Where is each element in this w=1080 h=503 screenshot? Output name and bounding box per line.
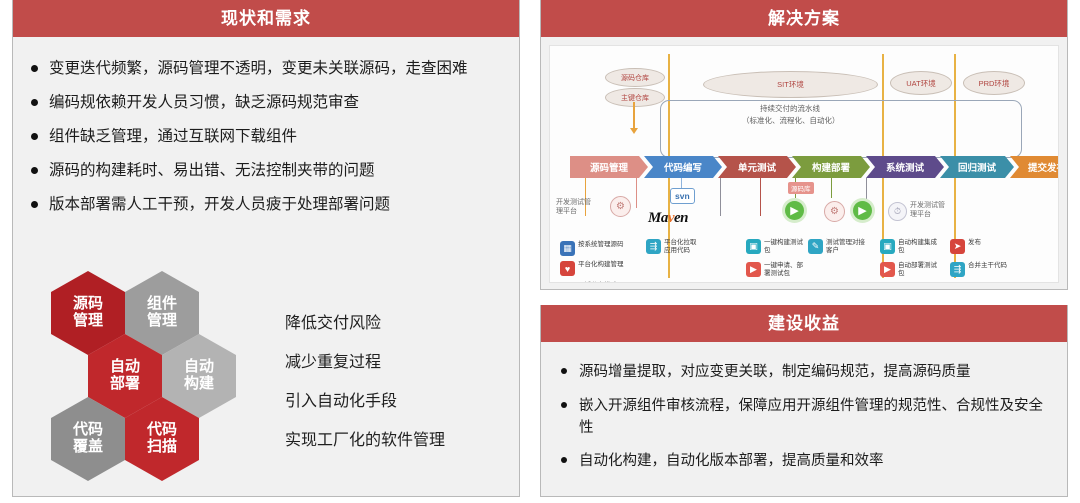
svn-icon: svn [670,188,695,204]
env-pill-sit: SIT环境 [703,71,878,98]
branch-icon: ⇶ [560,282,575,283]
heart-icon: ♥ [560,261,575,276]
feature-item: ⇶ 平台化拉取 应用代码 [646,239,697,255]
feature-item: ▶ 一键申请、部 署测试包 [746,262,803,278]
feature-item: ♥ 平台化构建管理 [560,261,624,276]
gear-icon: ⚙ [610,196,631,217]
env-pill-prd: PRD环境 [963,71,1025,95]
slide-root: 现状和需求 变更迭代频繁，源码管理不透明，变更未关联源码，走查困难 编码规依赖开… [0,0,1080,503]
source-repo-tag: 源码库 [788,182,814,194]
list-item: 自动化构建，自动化版本部署，提高质量和效率 [559,451,1045,473]
list-item: 组件缺乏管理，通过互联网下载组件 [29,127,503,148]
dev-test-platform-label-right: 开发测试管 理平台 [910,201,945,219]
list-item: 嵌入开源组件审核流程，保障应用开源组件管理的规范性、合规性及安全性 [559,396,1045,440]
source-repo-pill: 源码仓库 [605,68,665,87]
connector-line [760,178,761,216]
goal-item: 减少重复过程 [285,348,445,372]
connector-line [720,178,721,216]
branch-icon: ⇶ [646,239,661,254]
goal-list: 降低交付风险 减少重复过程 引入自动化手段 实现工厂化的软件管理 [285,309,445,465]
solution-title: 解决方案 [541,0,1067,37]
list-item: 版本部署需人工干预，开发人员疲于处理部署问题 [29,195,503,216]
gear-icon: ⚙ [824,201,845,222]
solution-panel: 解决方案 源码仓库 主键仓库 SIT环境 UAT环境 PRD环境 持续交付的流水… [540,0,1068,290]
list-item: 编码规依赖开发人员习惯，缺乏源码规范审查 [29,93,503,114]
cd-label-line1: 持续交付的流水线 [760,104,820,114]
goal-item: 引入自动化手段 [285,387,445,411]
pipeline-stage-code-writing[interactable]: 代码编写 [644,156,722,178]
benefit-list: 源码增量提取，对应变更关联，制定编码规范，提高源码质量 嵌入开源组件审核流程，保… [559,362,1045,473]
current-status-body: 变更迭代频繁，源码管理不透明，变更未关联源码，走查困难 编码规依赖开发人员习惯，… [13,37,519,496]
play-icon: ▶ [785,201,804,220]
clipboard-icon: ✎ [808,239,823,254]
benefit-body: 源码增量提取，对应变更关联，制定编码规范，提高源码质量 嵌入开源组件审核流程，保… [541,342,1067,496]
pipeline-stage-regression-test[interactable]: 回归测试 [940,156,1014,178]
solution-body: 源码仓库 主键仓库 SIT环境 UAT环境 PRD环境 持续交付的流水线 （标准… [541,37,1067,289]
pipeline-stage-build-deploy[interactable]: 构建部署 [792,156,870,178]
env-pill-uat: UAT环境 [890,71,952,95]
play-icon: ▶ [880,262,895,277]
goal-item: 降低交付风险 [285,309,445,333]
capability-hexagon-cluster: 源码 管理 组件 管理 自动 部署 自动 构建 代码 覆盖 代码 扫描 [31,269,276,494]
current-status-panel: 现状和需求 变更迭代频繁，源码管理不透明，变更未关联源码，走查困难 编码规依赖开… [12,0,520,497]
pipeline-stage-release[interactable]: 提交发布 [1010,156,1059,178]
feature-item: ➤ 发布 [950,239,981,254]
connector-line [636,178,637,208]
list-item: 源码的构建耗时、易出错、无法控制夹带的问题 [29,161,503,182]
cd-label-line2: （标准化、流程化、自动化） [742,116,840,126]
grid-icon: ▦ [560,241,575,256]
feature-item: ⇶ 灵活分支模式 [560,282,617,283]
problem-list: 变更迭代频繁，源码管理不透明，变更未关联源码，走查困难 编码规依赖开发人员习惯，… [29,59,503,216]
cd-pipeline-box [660,100,1022,158]
play-icon: ▶ [746,262,761,277]
repo-arrow-icon [633,102,635,128]
pipeline-stage-system-test[interactable]: 系统测试 [866,156,944,178]
list-item: 变更迭代频繁，源码管理不透明，变更未关联源码，走查困难 [29,59,503,80]
benefit-title: 建设收益 [541,305,1067,342]
package-icon: ▣ [880,239,895,254]
feature-item: ▦ 按系统管理源码 [560,241,624,256]
pipeline-stages: 源码管理 代码编写 单元测试 构建部署 系统测试 回归测试 提交发布 [570,156,1059,178]
list-item: 源码增量提取，对应变更关联，制定编码规范，提高源码质量 [559,362,1045,384]
pipeline-stage-source-management[interactable]: 源码管理 [570,156,648,178]
package-icon: ▣ [746,239,761,254]
maven-logo: Maven [648,210,688,227]
gauge-icon: ⏱ [888,202,907,221]
pipeline-diagram: 源码仓库 主键仓库 SIT环境 UAT环境 PRD环境 持续交付的流水线 （标准… [549,45,1059,283]
current-status-title: 现状和需求 [13,0,519,37]
main-repo-pill: 主键仓库 [605,88,665,107]
feature-item: ▣ 自动构建集成 包 [880,239,937,255]
rocket-icon: ➤ [950,239,965,254]
play-icon: ▶ [853,201,872,220]
feature-item: ▶ 自动部署测试 包 [880,262,937,278]
feature-item: ⇶ 合并主干代码 [950,262,1007,277]
feature-item: ✎ 测试管理对接 客户 [808,239,865,255]
branch-icon: ⇶ [950,262,965,277]
pipeline-stage-unit-test[interactable]: 单元测试 [718,156,796,178]
goal-item: 实现工厂化的软件管理 [285,426,445,450]
dev-test-platform-label-left: 开发测试管 理平台 [556,198,591,216]
feature-item: ▣ 一键构建测试 包 [746,239,803,255]
benefit-panel: 建设收益 源码增量提取，对应变更关联，制定编码规范，提高源码质量 嵌入开源组件审… [540,305,1068,497]
connector-line [831,178,832,198]
